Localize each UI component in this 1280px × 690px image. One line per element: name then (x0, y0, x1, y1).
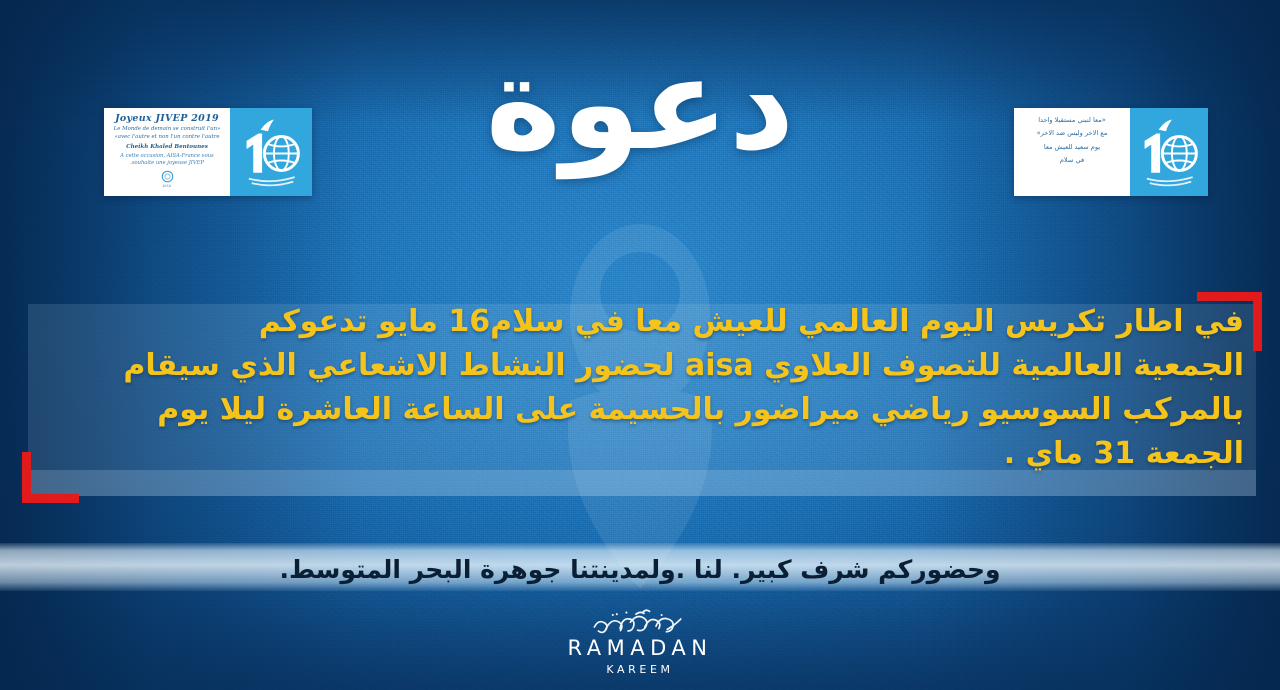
logo-card-right: «معا لنبني مستقبلا واحدا مع الاخر وليس ض… (1014, 108, 1208, 196)
invitation-line-2-prefix: الجمعية العالمية للتصوف العلاوي (764, 348, 1244, 383)
note-arabic-line-1: «معا لنبني مستقبلا واحدا (1020, 113, 1124, 126)
note-arabic-line-3: يوم سعيد للعيش معا (1020, 140, 1124, 153)
logo-card-left: Joyeux JIVEP 2019 «Le Monde de demain se… (104, 108, 312, 196)
corner-bracket-top-right (1197, 292, 1262, 351)
invitation-line-4: الجمعة 31 ماي . (44, 432, 1244, 476)
invitation-line-3: بالمركب السوسيو رياضي ميراضور بالحسيمة ع… (44, 388, 1244, 432)
invitation-body: في اطار تكريس اليوم العالمي للعيش معا في… (44, 300, 1244, 476)
seal-label: AISA (163, 184, 172, 188)
note-quote: «Le Monde de demain se construit l'un av… (110, 126, 224, 142)
note-arabic-line-4: في سلام (1020, 153, 1124, 166)
invitation-line-1: في اطار تكريس اليوم العالمي للعيش معا في… (44, 300, 1244, 344)
invitation-line-2-suffix: لحضور النشاط الاشعاعي الذي سيقام (123, 348, 674, 383)
aisa-16-globe-icon (230, 108, 312, 196)
invitation-line-2-latin: aisa (685, 348, 754, 383)
ramadan-arabic-calligraphy-icon (588, 606, 692, 636)
aisa-16-globe-icon (1130, 108, 1208, 196)
footer-ramadan-label: RAMADAN (568, 637, 713, 660)
note-tagline: A cette occasion, AISA-France vous souha… (110, 153, 224, 168)
note-arabic-line-2: مع الاخر وليس ضد الاخر» (1020, 126, 1124, 139)
invitation-line-2: الجمعية العالمية للتصوف العلاوي aisa لحض… (44, 344, 1244, 388)
note-title: Joyeux JIVEP 2019 (115, 113, 219, 124)
poster-canvas: دعوة Jo (0, 0, 1280, 690)
note-author: Cheikh Khaled Bentounes (126, 144, 208, 150)
logo-note-right: «معا لنبني مستقبلا واحدا مع الاخر وليس ض… (1014, 108, 1130, 196)
closing-message: وحضوركم شرف كبير. لنا .ولمدينتنا جوهرة ا… (0, 549, 1280, 589)
footer-kareem-label: KAREEM (606, 663, 673, 676)
aisa-seal-icon: AISA (160, 169, 175, 188)
corner-bracket-bottom-left (22, 452, 79, 503)
logo-note-left: Joyeux JIVEP 2019 «Le Monde de demain se… (104, 108, 230, 196)
ramadan-kareem-footer: RAMADAN KAREEM (0, 606, 1280, 676)
